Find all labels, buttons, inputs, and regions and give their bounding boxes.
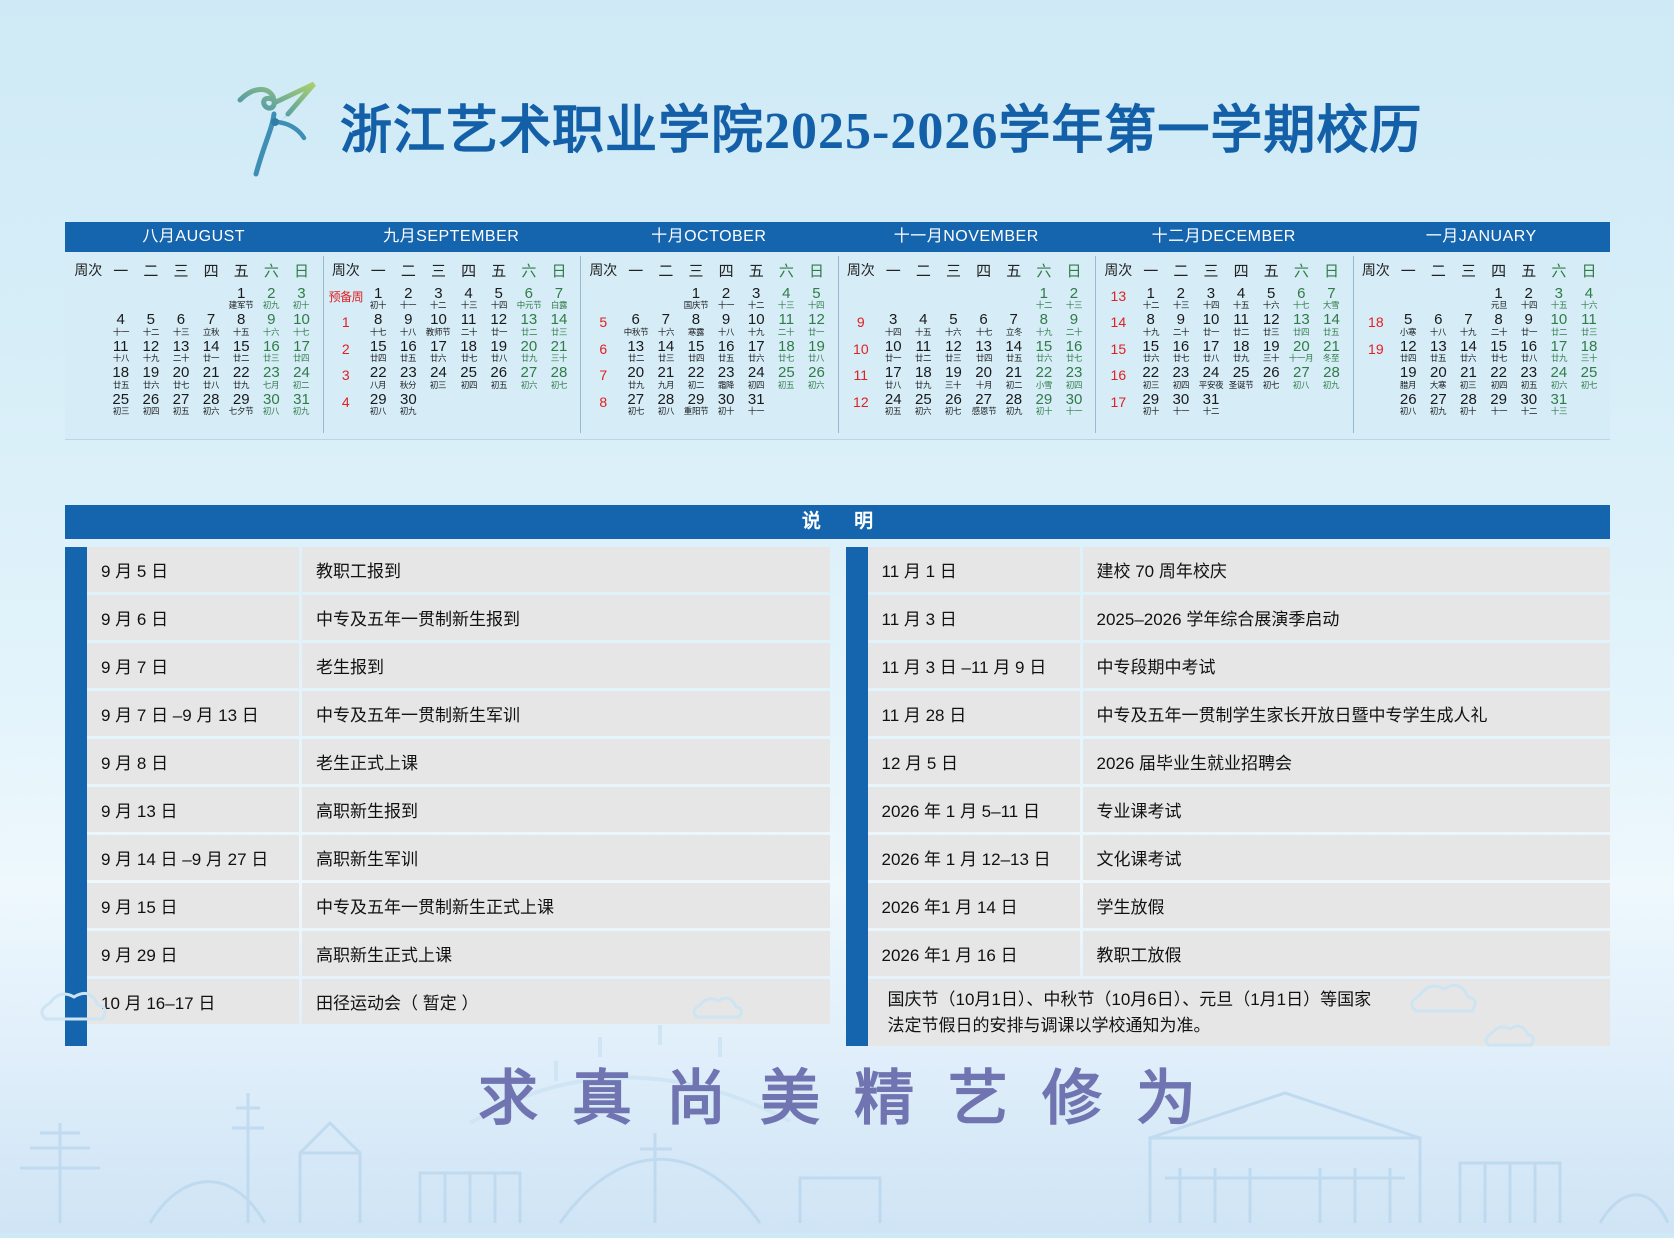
lunar-label: 廿三: [1575, 328, 1603, 337]
weekday-label: 四: [196, 260, 226, 281]
day-number: 29: [1029, 392, 1059, 407]
day-cell: 28初七: [544, 365, 574, 389]
day-cell: 21初二: [999, 365, 1029, 389]
day-number: 26: [136, 392, 166, 407]
lunar-label: 初十: [712, 407, 740, 416]
month-header-row: 八月AUGUST九月SEPTEMBER十月OCTOBER十一月NOVEMBER十…: [65, 222, 1610, 252]
day-cell: 31十一: [741, 392, 771, 416]
week-row: 613廿二14廿三15廿四16廿五17廿六18廿七19廿八: [582, 338, 836, 364]
lunar-label: [879, 302, 907, 311]
lunar-label: [1000, 302, 1028, 311]
day-cell: 28初六: [196, 392, 226, 416]
weekday-label: 四: [969, 260, 999, 281]
lunar-label: 十五: [909, 328, 937, 337]
day-cell: 29重阳节: [681, 392, 711, 416]
note-text: 高职新生正式上课: [302, 931, 830, 976]
day-number: 25: [1574, 365, 1604, 380]
day-cell: [454, 392, 484, 416]
weekday-label: 一: [1136, 260, 1166, 281]
day-cell: 13廿二: [514, 312, 544, 336]
day-number: 19: [938, 365, 968, 380]
day-number: 1: [1136, 286, 1166, 301]
lunar-label: 廿七: [1167, 355, 1195, 364]
weekday-label: 五: [484, 260, 514, 281]
day-number: 10: [878, 339, 908, 354]
notes-column-left: 9 月 5 日教职工报到9 月 6 日中专及五年一贯制新生报到9 月 7 日老生…: [65, 547, 830, 1046]
day-cell: 5十六: [1256, 286, 1286, 310]
day-cell: 22廿九: [226, 365, 256, 389]
lunar-label: 感恩节: [969, 407, 997, 416]
month-spacer: [67, 417, 321, 439]
lunar-label: 初三: [1137, 381, 1165, 390]
day-number: 2: [711, 286, 741, 301]
lunar-label: 初三: [1454, 381, 1482, 390]
day-number: 21: [651, 365, 681, 380]
month-column: 周次一二三四五六日 1建军节2初九3初十4十一5十二6十三7立秋8十五9十六10…: [65, 252, 323, 439]
lunar-label: 廿一: [1515, 328, 1543, 337]
note-text: 田径运动会（ 暂定 ）: [302, 979, 830, 1024]
day-number: 15: [1136, 339, 1166, 354]
day-number: 29: [1136, 392, 1166, 407]
day-cell: [1453, 286, 1483, 310]
lunar-label: 十二: [742, 302, 770, 311]
weekday-label: 二: [908, 260, 938, 281]
lunar-label: 十三: [1167, 302, 1195, 311]
week-number: [71, 392, 106, 394]
day-cell: 30初八: [256, 392, 286, 416]
week-row: 1010廿一11廿二12廿三13廿四14廿五15廿六16廿七: [840, 338, 1094, 364]
lunar-label: 大雪: [1317, 302, 1345, 311]
day-number: 5: [136, 312, 166, 327]
lunar-label: 廿八: [1197, 355, 1225, 364]
note-row: 2026 年1 月 14 日学生放假: [868, 883, 1611, 928]
lunar-label: [1227, 407, 1255, 416]
day-cell: 2十三: [1166, 286, 1196, 310]
weeknum-label: 周次: [71, 260, 106, 281]
lunar-label: 十一: [107, 328, 135, 337]
lunar-label: 初八: [257, 407, 285, 416]
note-row: 9 月 5 日教职工报到: [87, 547, 830, 592]
day-cell: 12十九: [136, 339, 166, 363]
note-date: 9 月 5 日: [87, 547, 299, 592]
day-number: [484, 392, 514, 407]
month-header: 九月SEPTEMBER: [323, 222, 581, 252]
day-number: 1: [681, 286, 711, 301]
lunar-label: 廿六: [1030, 355, 1058, 364]
lunar-label: 圣诞节: [1227, 381, 1255, 390]
lunar-label: 廿八: [485, 355, 513, 364]
day-cell: 5十四: [801, 286, 831, 310]
lunar-label: 初九: [1424, 407, 1452, 416]
lunar-label: 冬至: [1317, 355, 1345, 364]
week-number: 5: [586, 312, 621, 330]
note-row: 10 月 16–17 日田径运动会（ 暂定 ）: [87, 979, 830, 1024]
day-number: 10: [1544, 312, 1574, 327]
note-date: 11 月 3 日 –11 月 9 日: [868, 643, 1080, 688]
lunar-label: 重阳节: [682, 407, 710, 416]
day-number: 9: [393, 312, 423, 327]
day-cell: 4十六: [1574, 286, 1604, 310]
day-number: 3: [423, 286, 453, 301]
day-number: 11: [106, 339, 136, 354]
day-number: 5: [484, 286, 514, 301]
weeknum-label: 周次: [586, 260, 621, 281]
day-cell: 3十二: [423, 286, 453, 310]
day-cell: 15廿六: [1029, 339, 1059, 363]
day-cell: 10十七: [286, 312, 316, 336]
lunar-label: 十一: [742, 407, 770, 416]
day-number: 25: [106, 392, 136, 407]
day-number: 27: [1423, 392, 1453, 407]
day-cell: 2十一: [393, 286, 423, 310]
lunar-label: 廿九: [1545, 355, 1573, 364]
day-number: 13: [1286, 312, 1316, 327]
note-row: 9 月 7 日老生报到: [87, 643, 830, 688]
lunar-label: 廿三: [652, 355, 680, 364]
weekday-label: 二: [651, 260, 681, 281]
day-number: [196, 286, 226, 301]
day-number: 28: [1453, 392, 1483, 407]
lunar-label: 十三: [772, 302, 800, 311]
day-number: 30: [1059, 392, 1089, 407]
day-number: 26: [801, 365, 831, 380]
lunar-label: 廿八: [1515, 355, 1543, 364]
day-number: 5: [1256, 286, 1286, 301]
day-number: 7: [1453, 312, 1483, 327]
day-cell: 11廿二: [908, 339, 938, 363]
lunar-label: 初六: [515, 381, 543, 390]
day-number: 4: [1574, 286, 1604, 301]
lunar-label: 十四: [1515, 302, 1543, 311]
lunar-label: 教师节: [424, 328, 452, 337]
lunar-label: 廿二: [622, 355, 650, 364]
week-row: 185小寒6十八7十九8二十9廿一10廿二11廿三: [1355, 311, 1609, 337]
week-number: [844, 286, 879, 288]
note-text: 建校 70 周年校庆: [1083, 547, 1611, 592]
weekday-label: 日: [801, 260, 831, 281]
weekday-label: 三: [681, 260, 711, 281]
day-cell: 7立冬: [999, 312, 1029, 336]
lunar-label: 廿五: [712, 355, 740, 364]
day-number: 17: [1544, 339, 1574, 354]
weekday-label: 六: [1544, 260, 1574, 281]
school-logo-icon: [228, 70, 336, 178]
lunar-label: 初七: [1257, 381, 1285, 390]
day-number: 19: [484, 339, 514, 354]
week-row: 25初三26初四27初五28初六29七夕节30初八31初九: [67, 391, 321, 417]
day-cell: 26初七: [1256, 365, 1286, 389]
day-cell: 8二十: [1484, 312, 1514, 336]
day-number: 16: [1059, 339, 1089, 354]
day-number: [621, 286, 651, 301]
day-cell: 25初五: [771, 365, 801, 389]
lunar-label: 三十: [1257, 355, 1285, 364]
lunar-label: 十一: [394, 302, 422, 311]
lunar-label: 十二: [1515, 407, 1543, 416]
lunar-label: 初六: [802, 381, 830, 390]
lunar-label: 十三: [1545, 407, 1573, 416]
day-cell: 6十七: [969, 312, 999, 336]
day-number: 18: [771, 339, 801, 354]
day-cell: 30初九: [393, 392, 423, 416]
lunar-label: 十五: [227, 328, 255, 337]
note-row: 9 月 8 日老生正式上课: [87, 739, 830, 784]
day-number: 31: [741, 392, 771, 407]
day-number: 30: [1514, 392, 1544, 407]
day-number: 12: [801, 312, 831, 327]
note-row: 9 月 29 日高职新生正式上课: [87, 931, 830, 976]
lunar-label: 十六: [1575, 302, 1603, 311]
notes-column-right: 11 月 1 日建校 70 周年校庆11 月 3 日2025–2026 学年综合…: [846, 547, 1611, 1046]
day-number: 3: [1544, 286, 1574, 301]
note-row: 9 月 15 日中专及五年一贯制新生正式上课: [87, 883, 830, 928]
day-number: 30: [711, 392, 741, 407]
lunar-label: 元旦: [1484, 302, 1512, 311]
weekday-label: 日: [1316, 260, 1346, 281]
weekday-label: 四: [1484, 260, 1514, 281]
week-number: [1359, 286, 1394, 288]
day-number: [1286, 392, 1316, 407]
lunar-label: 初四: [1167, 381, 1195, 390]
week-row: 18十七9十八10教师节11二十12廿一13廿二14廿三: [325, 311, 579, 337]
note-date: 11 月 3 日: [868, 595, 1080, 640]
day-number: 29: [226, 392, 256, 407]
day-cell: [423, 392, 453, 416]
lunar-label: 九月: [652, 381, 680, 390]
day-cell: 10廿一: [878, 339, 908, 363]
weekday-label: 四: [454, 260, 484, 281]
lunar-label: [515, 407, 543, 416]
lunar-label: 廿二: [1545, 328, 1573, 337]
day-number: 15: [1484, 339, 1514, 354]
day-number: 25: [908, 392, 938, 407]
day-cell: 30十二: [1514, 392, 1544, 416]
day-number: 27: [969, 392, 999, 407]
note-text: 2026 届毕业生就业招聘会: [1083, 739, 1611, 784]
day-number: [1574, 392, 1604, 407]
lunar-label: 平安夜: [1197, 381, 1225, 390]
day-number: 21: [1316, 339, 1346, 354]
week-number: [71, 339, 106, 341]
lunar-label: 十四: [802, 302, 830, 311]
day-number: 13: [166, 339, 196, 354]
day-cell: 10教师节: [423, 312, 453, 336]
day-number: 31: [286, 392, 316, 407]
day-cell: 11二十: [771, 312, 801, 336]
lunar-label: 霜降: [712, 381, 740, 390]
day-number: [544, 392, 574, 407]
day-cell: 9十八: [711, 312, 741, 336]
day-number: 30: [1166, 392, 1196, 407]
month-header: 十月OCTOBER: [580, 222, 838, 252]
week-number: 3: [329, 365, 364, 383]
day-number: 10: [423, 312, 453, 327]
lunar-label: 初十: [287, 302, 315, 311]
weekday-label: 五: [999, 260, 1029, 281]
day-cell: 24初六: [1544, 365, 1574, 389]
day-number: 13: [1423, 339, 1453, 354]
day-number: 5: [938, 312, 968, 327]
lunar-label: 十二: [1197, 407, 1225, 416]
day-number: 19: [1256, 339, 1286, 354]
day-number: [136, 286, 166, 301]
day-cell: 22初二: [681, 365, 711, 389]
day-cell: 17廿九: [1544, 339, 1574, 363]
lunar-label: [1575, 407, 1603, 416]
page-header: 浙江艺术职业学院2025-2026学年第一学期校历: [0, 62, 1674, 182]
week-number: 8: [586, 392, 621, 410]
day-cell: 17廿八: [1196, 339, 1226, 363]
day-cell: [1316, 392, 1346, 416]
month-header: 十一月NOVEMBER: [838, 222, 1096, 252]
lunar-label: 十八: [712, 328, 740, 337]
day-cell: 12廿一: [801, 312, 831, 336]
day-cell: 22初三: [1136, 365, 1166, 389]
weekday-header-row: 周次一二三四五六日: [1355, 258, 1609, 285]
day-cell: 28初九: [1316, 365, 1346, 389]
day-cell: 13廿四: [969, 339, 999, 363]
lunar-label: 十一: [1484, 407, 1512, 416]
lunar-label: 廿九: [515, 355, 543, 364]
lunar-label: 腊月: [1394, 381, 1422, 390]
day-number: 27: [166, 392, 196, 407]
day-number: 17: [286, 339, 316, 354]
note-date: 10 月 16–17 日: [87, 979, 299, 1024]
note-date: 9 月 8 日: [87, 739, 299, 784]
day-number: 28: [999, 392, 1029, 407]
day-cell: 19廿八: [801, 339, 831, 363]
day-cell: 26初四: [136, 392, 166, 416]
day-cell: 17廿八: [878, 365, 908, 389]
day-number: 6: [166, 312, 196, 327]
day-cell: 25初六: [908, 392, 938, 416]
week-row: 1224初五25初六26初七27感恩节28初九29初十30十一: [840, 391, 1094, 417]
week-row: 26初八27初九28初十29十一30十二31十三: [1355, 391, 1609, 417]
day-number: 20: [1286, 339, 1316, 354]
lunar-label: 廿三: [257, 355, 285, 364]
day-cell: 20大寒: [1423, 365, 1453, 389]
day-cell: 6中秋节: [621, 312, 651, 336]
day-cell: 27感恩节: [969, 392, 999, 416]
lunar-label: 廿九: [227, 381, 255, 390]
week-row: 18廿五19廿六20廿七21廿八22廿九23七月24初二: [67, 364, 321, 390]
weeknum-label: 周次: [844, 260, 879, 281]
week-number: 17: [1101, 392, 1136, 410]
day-cell: 25初七: [1574, 365, 1604, 389]
day-cell: [514, 392, 544, 416]
day-cell: 2初九: [256, 286, 286, 310]
day-number: 8: [681, 312, 711, 327]
lunar-label: [1454, 302, 1482, 311]
weekday-label: 一: [363, 260, 393, 281]
week-number: 9: [844, 312, 879, 330]
weekday-header-row: 周次一二三四五六日: [67, 258, 321, 285]
lunar-label: 立秋: [197, 328, 225, 337]
weekday-label: 三: [1453, 260, 1483, 281]
day-cell: 23初四: [1059, 365, 1089, 389]
day-number: 22: [1484, 365, 1514, 380]
day-cell: 19廿八: [484, 339, 514, 363]
day-cell: 1十二: [1029, 286, 1059, 310]
month-spacer: [582, 417, 836, 439]
weekday-label: 一: [1393, 260, 1423, 281]
day-cell: 15廿二: [226, 339, 256, 363]
lunar-label: 三十: [1575, 355, 1603, 364]
day-cell: 3十五: [1544, 286, 1574, 310]
day-cell: [801, 392, 831, 416]
note-text: 高职新生报到: [302, 787, 830, 832]
day-number: 8: [1029, 312, 1059, 327]
day-cell: 3十四: [878, 312, 908, 336]
lunar-label: 廿六: [137, 381, 165, 390]
lunar-label: 二十: [167, 355, 195, 364]
day-number: 8: [226, 312, 256, 327]
day-number: 14: [196, 339, 226, 354]
day-cell: 21三十: [544, 339, 574, 363]
note-text: 中专及五年一贯制学生家长开放日暨中专学生成人礼: [1083, 691, 1611, 736]
day-cell: 12廿四: [1393, 339, 1423, 363]
day-cell: 18廿五: [106, 365, 136, 389]
weekday-label: 日: [1574, 260, 1604, 281]
day-cell: 5十六: [938, 312, 968, 336]
day-number: 3: [741, 286, 771, 301]
note-date: 9 月 7 日 –9 月 13 日: [87, 691, 299, 736]
day-number: 9: [711, 312, 741, 327]
weekday-label: 五: [741, 260, 771, 281]
day-cell: [106, 286, 136, 310]
day-cell: 19三十: [1256, 339, 1286, 363]
day-cell: [196, 286, 226, 310]
lunar-label: 廿二: [515, 328, 543, 337]
day-cell: 8十七: [363, 312, 393, 336]
lunar-label: 廿五: [394, 355, 422, 364]
day-number: 28: [196, 392, 226, 407]
lunar-label: 十七: [969, 328, 997, 337]
weekday-label: 六: [256, 260, 286, 281]
day-cell: 14廿三: [544, 312, 574, 336]
day-cell: 29初十: [1029, 392, 1059, 416]
day-number: 20: [621, 365, 651, 380]
day-cell: 19廿六: [136, 365, 166, 389]
lunar-label: 廿七: [1060, 355, 1088, 364]
day-cell: 30十一: [1166, 392, 1196, 416]
day-number: 23: [711, 365, 741, 380]
day-number: 30: [256, 392, 286, 407]
lunar-label: 初十: [1137, 407, 1165, 416]
lunar-label: 廿九: [909, 381, 937, 390]
day-cell: 21冬至: [1316, 339, 1346, 363]
day-cell: 28初十: [1453, 392, 1483, 416]
week-number: 18: [1359, 312, 1394, 330]
day-number: 29: [681, 392, 711, 407]
day-cell: 8寒露: [681, 312, 711, 336]
day-cell: [136, 286, 166, 310]
day-number: 26: [1393, 392, 1423, 407]
day-cell: [908, 286, 938, 310]
week-number: [1359, 392, 1394, 394]
day-cell: 10廿二: [1544, 312, 1574, 336]
day-number: [1316, 392, 1346, 407]
day-cell: 14廿三: [651, 339, 681, 363]
day-cell: 29初十: [1136, 392, 1166, 416]
week-number: 预备周: [329, 286, 364, 305]
week-number: [1359, 365, 1394, 367]
day-cell: 16廿七: [1166, 339, 1196, 363]
day-number: 10: [741, 312, 771, 327]
lunar-label: 八月: [364, 381, 392, 390]
lunar-label: 廿七: [1484, 355, 1512, 364]
week-row: 1729初十30十一31十二: [1097, 391, 1351, 417]
